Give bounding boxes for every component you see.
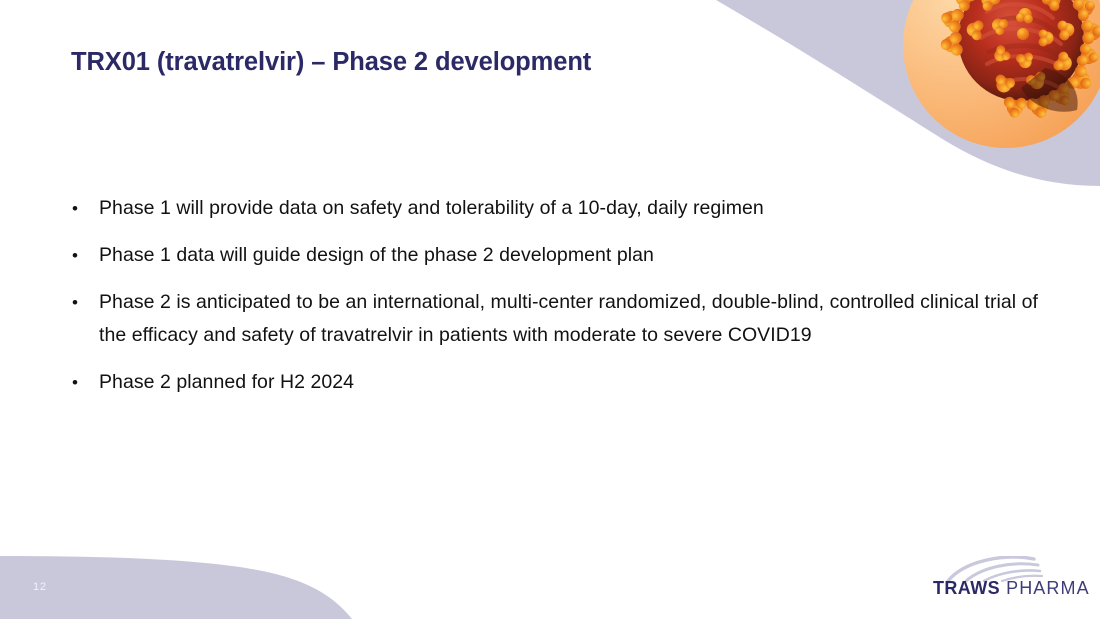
bullet-item: • Phase 1 will provide data on safety an… <box>71 192 1046 225</box>
bullet-text: Phase 1 will provide data on safety and … <box>99 197 764 219</box>
bullet-item: • Phase 2 is anticipated to be an intern… <box>71 286 1046 352</box>
bullet-text: Phase 2 planned for H2 2024 <box>99 371 354 393</box>
coronavirus-particle-icon <box>925 0 1100 150</box>
bullet-list: • Phase 1 will provide data on safety an… <box>71 192 1046 399</box>
bullet-marker-icon: • <box>72 239 82 272</box>
page-number: 12 <box>33 581 47 593</box>
slide-title: TRX01 (travatrelvir) – Phase 2 developme… <box>71 48 591 77</box>
bullet-item: • Phase 1 data will guide design of the … <box>71 239 1046 272</box>
bullet-marker-icon: • <box>72 366 82 399</box>
logo-name-light: PHARMA <box>1000 578 1090 598</box>
presentation-slide: TRX01 (travatrelvir) – Phase 2 developme… <box>0 0 1100 619</box>
brand-logo: TRAWS PHARMA <box>930 556 1070 600</box>
logo-wordmark: TRAWS PHARMA <box>933 578 1090 599</box>
bullet-item: • Phase 2 planned for H2 2024 <box>71 366 1046 399</box>
bullet-text: Phase 1 data will guide design of the ph… <box>99 244 654 266</box>
bottom-left-lavender-shape <box>0 556 352 619</box>
logo-name-bold: TRAWS <box>933 578 1000 598</box>
bullet-marker-icon: • <box>72 286 82 319</box>
bullet-marker-icon: • <box>72 192 82 225</box>
bullet-text: Phase 2 is anticipated to be an internat… <box>99 291 1038 346</box>
